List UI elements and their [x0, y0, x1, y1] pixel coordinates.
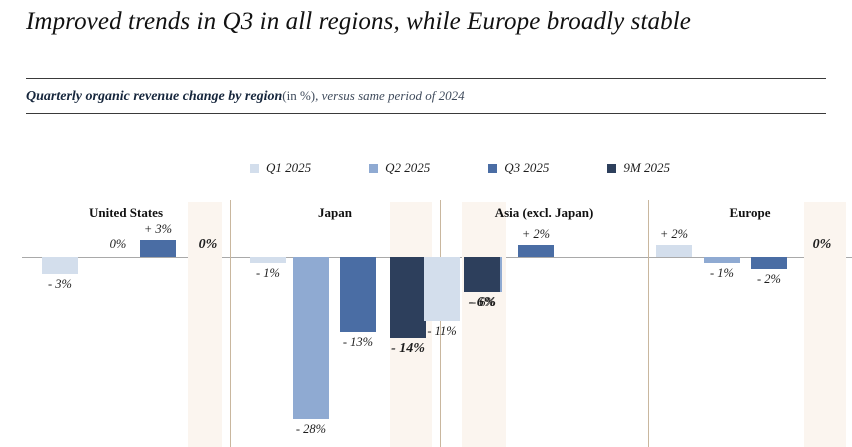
legend-swatch-icon [369, 164, 378, 173]
bar-group-label: United States [22, 205, 230, 221]
legend-swatch-icon [250, 164, 259, 173]
bar-value-label: - 13% [330, 335, 386, 350]
subtitle-unit-text: (in %) [282, 88, 315, 103]
legend-item-9m-2025[interactable]: 9M 2025 [607, 160, 670, 176]
subtitle-strong-text: Quarterly organic revenue change by regi… [26, 89, 282, 104]
bar-group-united-states: United States- 3%0%+ 3%0% [22, 196, 230, 447]
legend-swatch-icon [488, 164, 497, 173]
legend-item-q1-2025[interactable]: Q1 2025 [250, 160, 311, 176]
legend-item-q3-2025[interactable]: Q3 2025 [488, 160, 549, 176]
legend-swatch-icon [607, 164, 616, 173]
bar[interactable] [42, 257, 78, 274]
bar[interactable] [704, 257, 740, 263]
bar-value-label: + 2% [646, 227, 702, 242]
bar[interactable] [140, 240, 176, 257]
bar-value-label: - 6% [454, 295, 510, 311]
bar-group-europe: Europe+ 2%- 1%- 2%0% [648, 196, 852, 447]
legend-item-label: Q2 2025 [385, 160, 430, 176]
bar[interactable] [464, 257, 500, 292]
bar-value-label: - 2% [741, 272, 797, 287]
subtitle-rest-text: (in %), versus same period of 2024 [282, 88, 464, 103]
bar-value-label: 0% [794, 237, 850, 253]
bar[interactable] [424, 257, 460, 321]
chart-legend: Q1 2025Q2 2025Q3 20259M 2025 [250, 160, 670, 176]
bar-value-label: - 14% [380, 341, 436, 357]
legend-item-label: 9M 2025 [623, 160, 670, 176]
legend-item-label: Q3 2025 [504, 160, 549, 176]
bar-value-label: 0% [90, 237, 146, 252]
legend-item-label: Q1 2025 [266, 160, 311, 176]
subtitle-block: Quarterly organic revenue change by regi… [26, 78, 826, 114]
bar-group-japan: Japan- 1%- 28%- 13%- 14% [230, 196, 440, 447]
subtitle-rule-bottom [26, 113, 826, 114]
legend-item-q2-2025[interactable]: Q2 2025 [369, 160, 430, 176]
bar-group-asia-excl-japan: Asia (excl. Japan)- 11%- 6%+ 2%- 6% [440, 196, 648, 447]
bar-value-label: - 28% [283, 422, 339, 437]
bar[interactable] [656, 245, 692, 257]
bar-value-label: - 1% [240, 266, 296, 281]
bar-value-label: + 2% [508, 227, 564, 242]
bar-value-label: - 11% [414, 324, 470, 339]
bar-value-label: - 3% [32, 277, 88, 292]
bar[interactable] [751, 257, 787, 269]
chart-subtitle: Quarterly organic revenue change by regi… [26, 79, 826, 113]
page-title: Improved trends in Q3 in all regions, wh… [26, 8, 826, 36]
bar-group-label: Europe [648, 205, 852, 221]
bar[interactable] [250, 257, 286, 263]
bar-value-label: + 3% [130, 222, 186, 237]
chart-plot-area: United States- 3%0%+ 3%0%Japan- 1%- 28%-… [0, 196, 852, 447]
bar-group-label: Asia (excl. Japan) [440, 205, 648, 221]
bar-value-label: 0% [180, 237, 236, 253]
bar[interactable] [518, 245, 554, 257]
bar-group-label: Japan [230, 205, 440, 221]
subtitle-comparison-text: , versus same period of 2024 [315, 88, 465, 103]
bar[interactable] [340, 257, 376, 332]
bar[interactable] [293, 257, 329, 419]
